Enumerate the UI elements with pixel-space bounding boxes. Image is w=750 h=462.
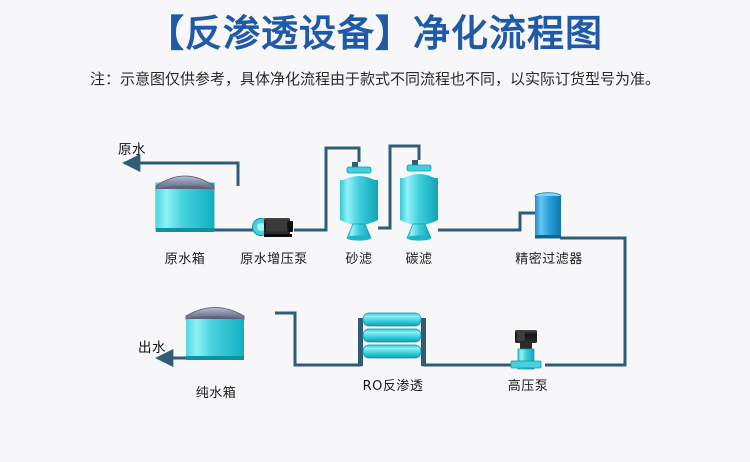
ro-membrane-tube bbox=[363, 329, 421, 342]
label-ro-membrane: RO反渗透 bbox=[347, 375, 439, 394]
ro-membrane-module[interactable] bbox=[358, 313, 426, 366]
flow-label-outlet: 出水 bbox=[138, 336, 166, 356]
flow-diagram-page: 【反渗透设备】净化流程图 注：示意图仅供参考，具体净化流程由于款式不同流程也不同… bbox=[0, 0, 750, 462]
label-carbon-filter: 碳滤 bbox=[393, 248, 445, 267]
carbon-filter-vessel[interactable] bbox=[400, 160, 438, 241]
pipe-hp-pump-to-ro bbox=[424, 320, 520, 365]
label-raw-booster-pump: 原水增压泵 bbox=[222, 248, 326, 267]
raw-water-tank[interactable] bbox=[156, 176, 214, 232]
raw-water-booster-pump[interactable] bbox=[253, 218, 294, 237]
pipe-carbon-to-precision bbox=[438, 213, 537, 230]
ro-membrane-tube bbox=[363, 345, 421, 358]
label-pure-water-tank: 纯水箱 bbox=[174, 382, 258, 401]
pure-water-tank[interactable] bbox=[186, 308, 244, 361]
high-pressure-pump[interactable] bbox=[511, 330, 541, 369]
precision-filter[interactable] bbox=[535, 193, 561, 239]
label-raw-water-tank: 原水箱 bbox=[142, 248, 228, 267]
label-high-pressure-pump: 高压泵 bbox=[492, 375, 564, 394]
sand-filter-vessel[interactable] bbox=[340, 162, 378, 241]
flow-label-inlet: 原水 bbox=[118, 138, 146, 158]
label-sand-filter: 砂滤 bbox=[333, 248, 385, 267]
ro-membrane-tube bbox=[363, 313, 421, 326]
pipe-ro-to-pure-tank bbox=[275, 313, 360, 365]
label-precision-filter: 精密过滤器 bbox=[499, 248, 599, 267]
